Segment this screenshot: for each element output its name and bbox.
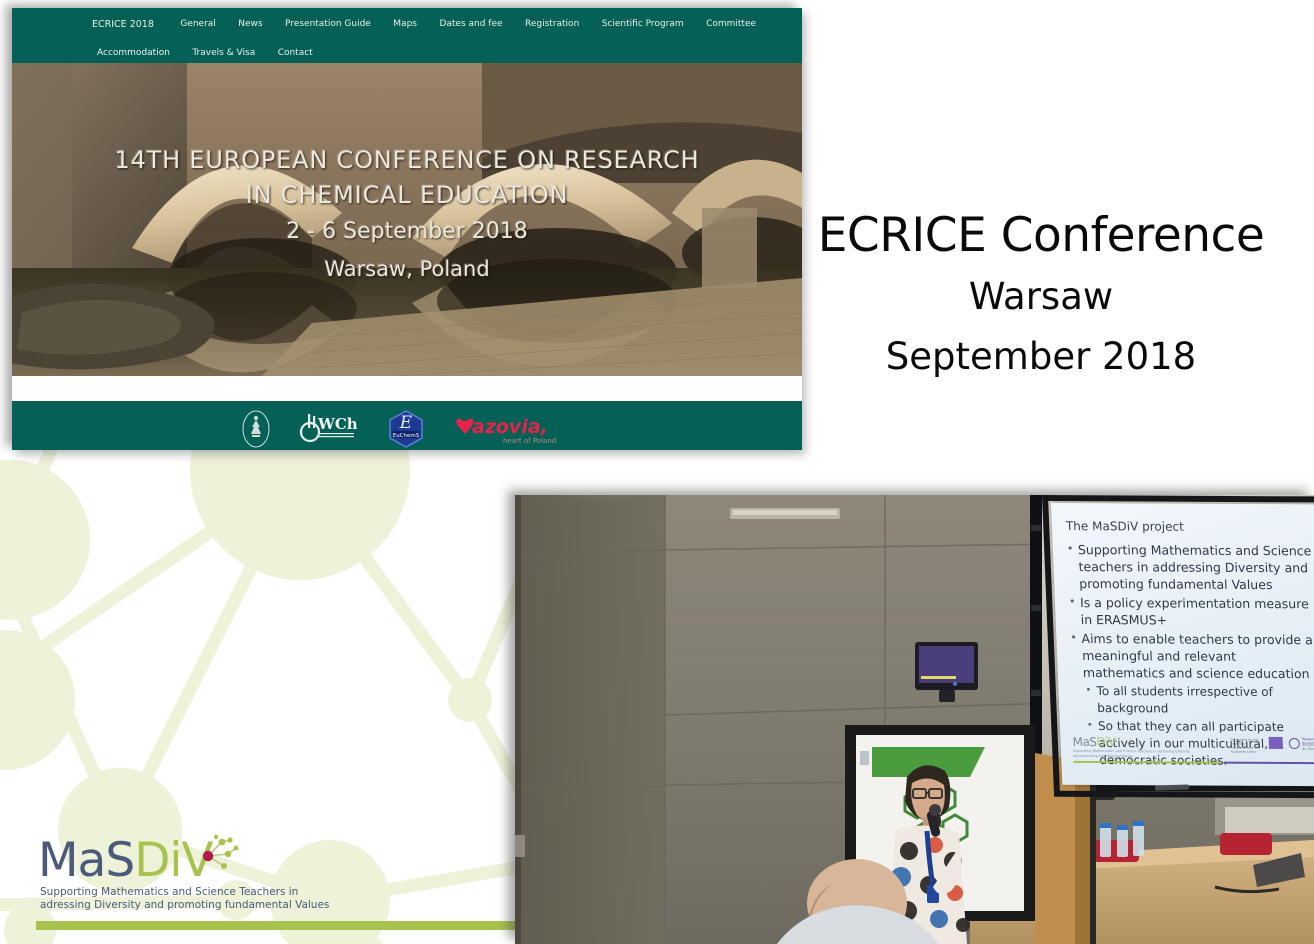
- nav-item-ecrice-2018[interactable]: ECRICE 2018: [92, 19, 154, 30]
- nav-item-news[interactable]: News: [238, 19, 262, 29]
- svg-text:azovia,: azovia,: [472, 416, 548, 438]
- projected-slide-bullet-1: Supporting Mathematics and Science teach…: [1067, 541, 1314, 593]
- projected-slide-subbullet-1: To all students irrespective of backgrou…: [1072, 683, 1314, 718]
- erasmus-flag-icon: [1269, 737, 1283, 749]
- masdiv-word-part1: MaS: [38, 833, 134, 888]
- nav-item-general[interactable]: General: [180, 19, 215, 29]
- nav-item-presentation-guide[interactable]: Presentation Guide: [285, 19, 371, 29]
- nav-item-dates-and-fee[interactable]: Dates and fee: [439, 19, 502, 29]
- title-city: Warsaw: [806, 267, 1276, 327]
- masdiv-tagline-line1: Supporting Mathematics and Science Teach…: [40, 886, 329, 899]
- conference-photo: The MaSDiV project Supporting Mathematic…: [515, 495, 1314, 944]
- hero-line-4: Warsaw, Poland: [12, 251, 802, 287]
- nav-item-scientific-program[interactable]: Scientific Program: [602, 19, 684, 29]
- website-footer-bar: WCh E EuChemS azovia, heart of Poland: [12, 401, 802, 450]
- title-date: September 2018: [806, 327, 1276, 387]
- website-navigation-bar: ECRICE 2018 General News Presentation Gu…: [12, 8, 802, 63]
- projected-slide-partner-sub: Université des Sciences de l'Education: [1302, 743, 1314, 751]
- ph-freiburg-mark-icon: [1289, 738, 1300, 749]
- projected-slide-green-rule: [1073, 761, 1221, 764]
- hero-line-2: IN CHEMICAL EDUCATION: [12, 177, 802, 213]
- svg-text:heart of Poland: heart of Poland: [503, 437, 556, 445]
- svg-text:E: E: [399, 413, 413, 433]
- svg-text:WCh: WCh: [317, 415, 357, 433]
- website-sponsor-logos: WCh E EuChemS azovia, heart of Poland: [12, 401, 802, 450]
- masdiv-tagline: Supporting Mathematics and Science Teach…: [40, 886, 329, 912]
- projected-slide-title: The MaSDiV project: [1066, 519, 1314, 534]
- hero-line-1: 14TH EUROPEAN CONFERENCE ON RESEARCH: [12, 143, 802, 177]
- ecrice-website-screenshot: ECRICE 2018 General News Presentation Gu…: [12, 8, 802, 450]
- projected-slide-footer-tagline: Supporting Mathematics and Science Teach…: [1073, 749, 1194, 760]
- projected-slide-content: The MaSDiV project Supporting Mathematic…: [1051, 503, 1314, 786]
- page-title: ECRICE Conference: [806, 205, 1276, 267]
- euchems-logo: E EuChemS: [385, 409, 427, 449]
- hero-line-3: 2 - 6 September 2018: [12, 213, 802, 251]
- projected-slide-logo-part1: MaS: [1072, 735, 1096, 749]
- nav-item-registration[interactable]: Registration: [525, 19, 579, 29]
- nav-item-travels-and-visa[interactable]: Travels & Visa: [192, 48, 255, 58]
- projected-slide: The MaSDiV project Supporting Mathematic…: [1051, 503, 1314, 786]
- projected-slide-bullet-3: Aims to enable teachers to provide a mea…: [1070, 630, 1314, 682]
- masdiv-tagline-line2: adressing Diversity and promoting fundam…: [40, 899, 329, 912]
- projected-slide-logo-part2: DiV: [1096, 735, 1116, 749]
- website-hero-banner: 14TH EUROPEAN CONFERENCE ON RESEARCH IN …: [12, 63, 802, 376]
- website-white-separator: [12, 376, 802, 401]
- projected-slide-footer: MaSDiV Supporting Mathematics and Scienc…: [1072, 735, 1314, 770]
- masdiv-logo: MaSDiV Supporting Mathematics and Scienc…: [38, 836, 278, 918]
- university-of-warsaw-logo: [241, 409, 271, 449]
- nav-item-committee[interactable]: Committee: [706, 19, 756, 29]
- nav-item-contact[interactable]: Contact: [278, 48, 313, 58]
- wch-faculty-of-chemistry-logo: WCh: [299, 412, 357, 446]
- svg-text:EuChemS: EuChemS: [393, 433, 420, 439]
- mazovia-logo: azovia, heart of Poland: [455, 412, 573, 446]
- nav-item-accommodation[interactable]: Accommodation: [97, 48, 170, 58]
- hero-text-block: 14TH EUROPEAN CONFERENCE ON RESEARCH IN …: [12, 143, 802, 287]
- nav-row-primary: ECRICE 2018 General News Presentation Gu…: [12, 19, 802, 37]
- slide-title-block: ECRICE Conference Warsaw September 2018: [806, 205, 1276, 387]
- projected-slide-bullet-2: Is a policy experimentation measure in E…: [1069, 594, 1314, 629]
- masdiv-network-dots-icon: [196, 834, 246, 872]
- nav-item-maps[interactable]: Maps: [393, 19, 417, 29]
- projected-slide-funding-note: Co-funded by the Erasmus+ Programme of t…: [1231, 738, 1266, 754]
- projected-slide-purple-rule: [1224, 762, 1314, 765]
